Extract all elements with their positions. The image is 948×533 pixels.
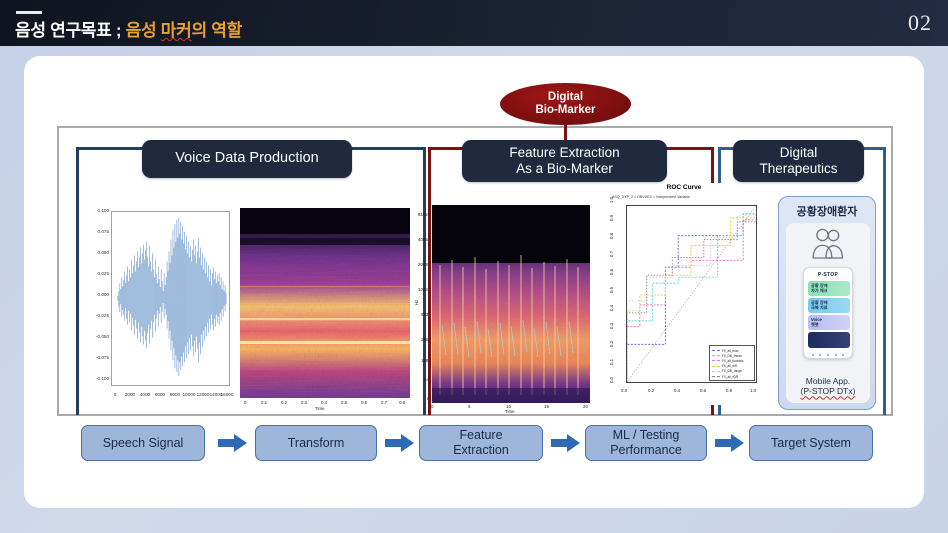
roc-x-tick: 0.6 xyxy=(700,388,706,393)
roc-x-tick: 0.0 xyxy=(621,388,627,393)
spectrogram-2-x-tick: 15 xyxy=(544,404,549,409)
page-title-main: 음성 연구목표 ; xyxy=(15,21,126,40)
roc-y-tick: 0.9 xyxy=(609,215,614,221)
waveform-y-tick: -0.100 xyxy=(85,376,109,381)
digital-biomarker-badge: Digital Bio-Marker xyxy=(500,83,631,125)
roc-legend-label: F0_all_diff xyxy=(722,364,737,368)
spectrogram-1-x-tick: 0.6 xyxy=(361,400,367,405)
flow-step-label: ML / Testing xyxy=(610,428,682,443)
waveform-x-tick: 16000 xyxy=(218,392,234,397)
header-dtx-line-2: Therapeutics xyxy=(759,161,837,177)
flow-step-speech-signal[interactable]: Speech Signal xyxy=(81,425,205,461)
page-number: 02 xyxy=(908,10,932,36)
flow-arrow-4-icon xyxy=(715,433,745,453)
roc-x-tick: 1.0 xyxy=(750,388,756,393)
waveform-y-tick: -0.075 xyxy=(85,355,109,360)
roc-subtitle: ASQ_DYP_2 = OBVDEX = Independent Variabl… xyxy=(612,195,690,199)
spectrogram-2-x-label: Time xyxy=(505,409,515,414)
waveform-y-tick: 0.100 xyxy=(85,208,109,213)
flow-arrow-1-icon xyxy=(218,433,248,453)
waveform-axes xyxy=(111,211,230,386)
waveform-plot: 0.100 0.075 0.050 0.025 0.000 -0.025 -0.… xyxy=(84,205,234,405)
accent-part-1: 음성 xyxy=(126,21,161,40)
biomarker-line-1: Digital xyxy=(535,91,595,104)
nav-dot xyxy=(812,354,814,356)
spectrogram-1-image xyxy=(240,208,410,398)
patient-inner-card: P-STOP 공황 장애자가 체크 공황 장애극복 치료 Voice챗봇 Mob… xyxy=(786,223,870,403)
patient-caption-line-2: (P-STOP DTx) xyxy=(786,386,870,397)
roc-x-tick: 0.4 xyxy=(674,388,680,393)
spectrogram-1-x-tick: 0.5 xyxy=(341,400,347,405)
roc-y-tick: 0.1 xyxy=(609,359,614,365)
spectrogram-2-y-tick: 0 xyxy=(427,396,429,401)
spectrogram-1-x-tick: 0.1 xyxy=(261,400,267,405)
spectrogram-2-y-tick: 128 xyxy=(421,358,428,363)
spectrogram-2-y-tick: 4096 xyxy=(418,237,428,242)
page-title: 음성 연구목표 ; 음성 마커의 역할 xyxy=(15,16,242,41)
header-feature-line-2: As a Bio-Marker xyxy=(509,161,619,177)
biomarker-line-2: Bio-Marker xyxy=(535,104,595,117)
spectrogram-2-y-tick: 512 xyxy=(421,312,428,317)
app-card-media[interactable] xyxy=(808,332,850,348)
flow-step-transform[interactable]: Transform xyxy=(255,425,377,461)
flow-step-label: Speech Signal xyxy=(103,436,184,451)
app-card-line-2: 자가 체크 xyxy=(811,288,828,293)
roc-y-tick: 0.2 xyxy=(609,341,614,347)
flow-arrow-3-icon xyxy=(551,433,581,453)
waveform-y-tick: 0.000 xyxy=(85,292,109,297)
roc-x-tick: 0.2 xyxy=(648,388,654,393)
roc-y-tick: 0.0 xyxy=(609,377,614,383)
roc-legend-label: F0_DB_range xyxy=(722,369,742,373)
patient-caption-line-1: Mobile App. xyxy=(786,376,870,387)
roc-y-tick: 0.6 xyxy=(609,269,614,275)
nav-dot xyxy=(835,354,837,356)
header-feature-extraction: Feature Extraction As a Bio-Marker xyxy=(462,140,667,182)
roc-legend-label: F0_DB_mean xyxy=(722,354,742,358)
flow-step-label-line-2: Performance xyxy=(610,443,682,458)
flow-step-label-line-2: Extraction xyxy=(453,443,509,458)
accent-part-2: 마커 xyxy=(161,21,192,40)
title-bar: 음성 연구목표 ; 음성 마커의 역할 02 xyxy=(0,0,948,46)
spectrogram-2-x-tick: 20 xyxy=(583,404,588,409)
phone-app-brand: P-STOP xyxy=(804,272,852,278)
header-feature-line-1: Feature Extraction xyxy=(509,145,619,161)
waveform-y-tick: 0.025 xyxy=(85,271,109,276)
flow-step-ml-testing[interactable]: ML / Testing Performance xyxy=(585,425,707,461)
patient-panel: 공황장애환자 P-STOP 공황 장애자가 체크 공황 장애극복 치료 Voic… xyxy=(778,196,876,410)
spectrogram-2-x-tick: 0 xyxy=(431,404,433,409)
waveform-y-tick: 0.075 xyxy=(85,229,109,234)
spectrogram-2-y-tick: 256 xyxy=(421,337,428,342)
app-card-self-check[interactable]: 공황 장애자가 체크 xyxy=(808,281,850,296)
patient-caption: Mobile App. (P-STOP DTx) xyxy=(786,376,870,397)
flow-arrow-2-icon xyxy=(385,433,415,453)
roc-curve-plot: ROC Curve ASQ_DYP_2 = OBVDEX = Independe… xyxy=(604,183,764,405)
header-voice-label: Voice Data Production xyxy=(175,150,318,167)
phone-mockup: P-STOP 공황 장애자가 체크 공황 장애극복 치료 Voice챗봇 xyxy=(803,267,853,359)
roc-legend: F0_all_max F0_DB_mean F0_all_kurtosis F0… xyxy=(709,345,755,381)
roc-y-tick: 0.4 xyxy=(609,305,614,311)
waveform-svg xyxy=(112,212,229,385)
nav-dot xyxy=(842,354,844,356)
nav-dot xyxy=(819,354,821,356)
app-card-line-2: 챗봇 xyxy=(811,322,819,327)
patient-title: 공황장애환자 xyxy=(779,203,875,219)
spectrogram-2-y-tick: 8192 xyxy=(418,212,428,217)
flow-step-label: Feature xyxy=(453,428,509,443)
roc-x-tick: 0.8 xyxy=(726,388,732,393)
title-rule xyxy=(16,11,42,14)
roc-y-tick: 0.7 xyxy=(609,251,614,257)
phone-nav-dots xyxy=(804,354,852,356)
roc-title: ROC Curve xyxy=(604,184,764,191)
header-dtx-line-1: Digital xyxy=(759,145,837,161)
nav-dot xyxy=(827,354,829,356)
spectrogram-2-y-tick: 2048 xyxy=(418,262,428,267)
spectrogram-2-y-tick: 1024 xyxy=(418,287,428,292)
app-card-line-2: 극복 치료 xyxy=(811,305,828,310)
flow-step-label: Target System xyxy=(771,436,851,451)
spectrogram-1-x-tick: 0.2 xyxy=(281,400,287,405)
waveform-y-tick: -0.050 xyxy=(85,334,109,339)
spectrogram-1-x-tick: 0.8 xyxy=(399,400,405,405)
roc-y-tick: 0.8 xyxy=(609,233,614,239)
app-card-treatment[interactable]: 공황 장애극복 치료 xyxy=(808,298,850,313)
roc-y-tick: 0.5 xyxy=(609,287,614,293)
spectrogram-plot-2 xyxy=(432,205,590,403)
spectrogram-1-x-tick: 0.4 xyxy=(321,400,327,405)
header-voice-data-production: Voice Data Production xyxy=(142,140,352,178)
spectrogram-1-x-tick: 0.3 xyxy=(301,400,307,405)
roc-legend-label: F0_all_IQR xyxy=(722,375,738,379)
people-icon xyxy=(810,227,846,259)
biomarker-connector xyxy=(564,122,567,142)
flow-step-label: Transform xyxy=(288,436,345,451)
spectrogram-1-x-tick: 0 xyxy=(244,400,246,405)
spectrogram-1-x-tick: 0.7 xyxy=(381,400,387,405)
flow-step-feature-extraction[interactable]: Feature Extraction xyxy=(419,425,543,461)
spectrogram-2-y-tick: 64 xyxy=(424,377,429,382)
roc-legend-label: F0_all_max xyxy=(722,349,738,353)
spectrogram-plot-1 xyxy=(240,208,410,398)
waveform-y-tick: 0.050 xyxy=(85,250,109,255)
roc-legend-label: F0_all_kurtosis xyxy=(722,359,743,363)
roc-y-tick: 0.3 xyxy=(609,323,614,329)
spectrogram-1-x-label: Time xyxy=(315,406,325,411)
header-digital-therapeutics: Digital Therapeutics xyxy=(733,140,864,182)
roc-legend-item: F0_all_IQR xyxy=(712,374,752,379)
spectrogram-2-x-tick: 5 xyxy=(468,404,470,409)
flow-step-target-system[interactable]: Target System xyxy=(749,425,873,461)
roc-y-tick: 1.0 xyxy=(609,197,614,203)
waveform-y-tick: -0.025 xyxy=(85,313,109,318)
spectrogram-2-y-label: Hz xyxy=(414,300,419,305)
accent-part-3: 의 역할 xyxy=(191,21,241,40)
app-card-voice-chatbot[interactable]: Voice챗봇 xyxy=(808,315,850,330)
spectrogram-2-image xyxy=(432,205,590,403)
page-title-accent: 음성 마커의 역할 xyxy=(126,21,242,40)
